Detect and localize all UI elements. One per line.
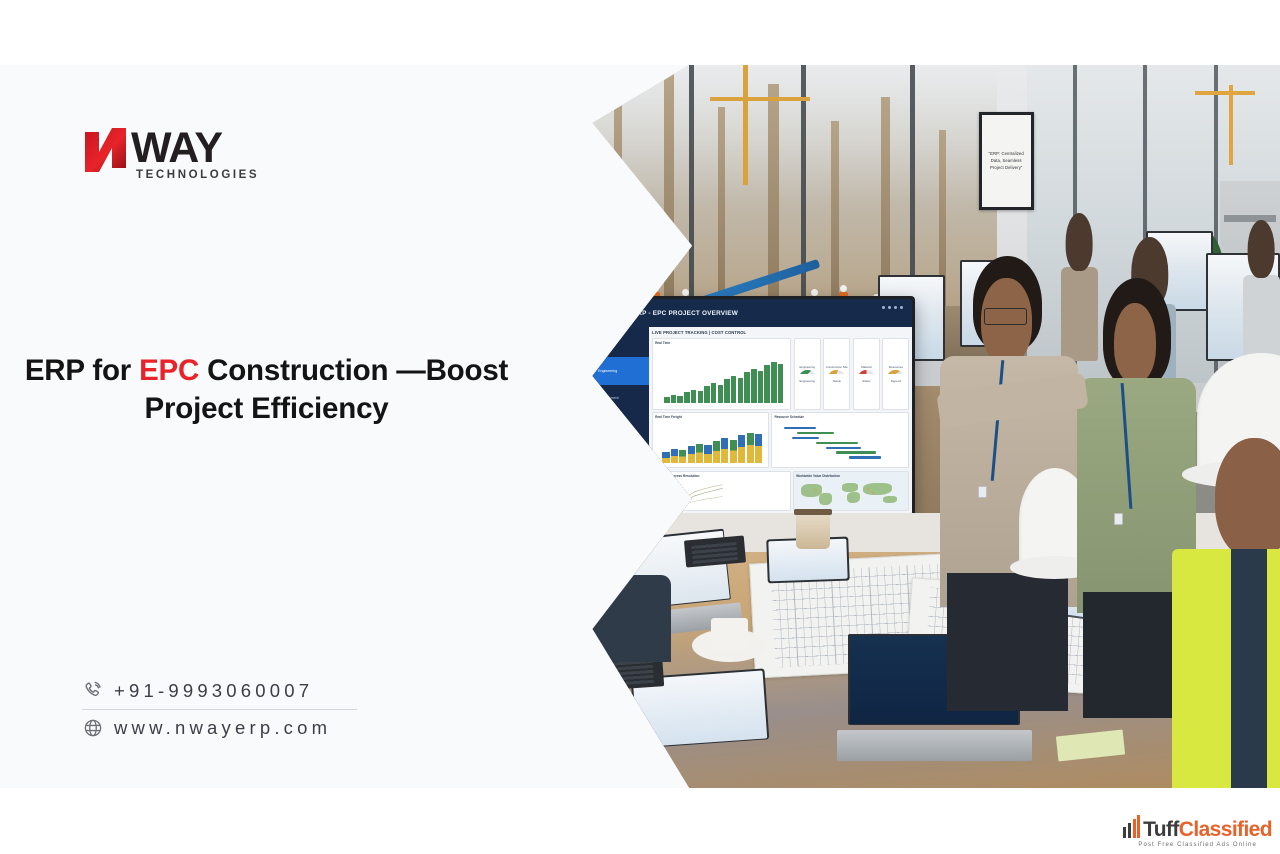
person-site-engineer	[1176, 361, 1280, 788]
headline-accent: EPC	[139, 354, 199, 387]
person-project-lead	[930, 260, 1094, 694]
person-pointing-arm	[938, 383, 1087, 470]
gauge-status: Engineering	[800, 379, 815, 383]
sidebar-item-engineering[interactable]: Engineering	[587, 357, 649, 385]
gauge-label: Construction Site	[826, 365, 848, 369]
sidebar-item-label: Engineering	[598, 369, 617, 373]
engineering-icon	[592, 369, 595, 372]
ad-banner-canvas: WAY TECHNOLOGIES ERP for EPC Constructio…	[0, 0, 1280, 854]
bar-chart-real-time	[664, 360, 783, 404]
watermark-tagline: Post Free Classified Ads Online	[1123, 842, 1272, 848]
nway-logo: WAY TECHNOLOGIES	[82, 126, 342, 188]
gauge-arc	[887, 370, 904, 379]
headline-line1-post: Construction —Boost	[199, 354, 508, 387]
card-title: Real Time	[655, 341, 788, 345]
eyeglasses	[984, 308, 1027, 325]
id-badge	[978, 486, 987, 498]
hero-photo-frame: “ERP: Centralized Data, Seamless Project…	[536, 65, 1280, 788]
card-resource-schedule: Resource Schedule	[771, 412, 909, 468]
contact-divider	[82, 709, 357, 710]
wall-poster-text: “ERP: Centralized Data, Seamless Project…	[985, 150, 1028, 171]
gauge-status: Status	[862, 379, 870, 383]
website-url: www.nwayerp.com	[114, 717, 331, 739]
wall-poster: “ERP: Centralized Data, Seamless Project…	[979, 112, 1034, 210]
globe-icon	[82, 717, 104, 739]
gauge-status: Status	[833, 379, 841, 383]
phone-call-icon	[82, 680, 104, 702]
tuffclassified-watermark: TuffClassified Post Free Classified Ads …	[1123, 815, 1272, 848]
dashboard-subtitle: LIVE PROJECT TRACKING | COST CONTROL	[652, 330, 909, 335]
gauge-arc	[858, 370, 875, 379]
gauge-arc	[799, 370, 816, 379]
hi-vis-vest	[1172, 549, 1280, 788]
gauge-resources: Resources Depend	[882, 338, 909, 410]
hero-photo: “ERP: Centralized Data, Seamless Project…	[536, 65, 1280, 788]
sticky-note	[1056, 730, 1125, 762]
page-title: ERP for EPC Construction —Boost Project …	[24, 352, 509, 428]
gauge-card-group: Engineering Engineering Construction Sit…	[794, 338, 910, 410]
gauge-label: Engineering	[800, 365, 815, 369]
dashboard-window-controls[interactable]	[882, 306, 903, 309]
calculator-top[interactable]	[684, 535, 746, 568]
card-worldwide-distribution: Worldwide Value Distribution	[793, 471, 909, 511]
id-badge	[1114, 513, 1123, 525]
contact-block: +91-9993060007 www.nwayerp.com	[82, 676, 382, 743]
gauge-engineering: Engineering Engineering	[794, 338, 821, 410]
gauge-material: Material Status	[853, 338, 880, 410]
card-title: Worldwide Value Distribution	[796, 474, 906, 478]
gauge-status: Depend	[891, 379, 901, 383]
contact-website-row[interactable]: www.nwayerp.com	[82, 713, 382, 743]
card-title: Real Time Freight	[655, 415, 766, 419]
gantt-chart	[779, 425, 903, 463]
gauge-arc	[828, 370, 845, 379]
gauge-label: Resources	[889, 365, 903, 369]
coffee-cup	[711, 618, 748, 651]
bar-chart-icon	[1123, 815, 1140, 838]
gauge-label: Material	[861, 365, 871, 369]
dashboard-title: Nway ERP - EPC PROJECT OVERVIEW	[587, 299, 912, 327]
watermark-name-orange: Classified	[1179, 818, 1272, 841]
card-pipeline-progress: Pipeline Progress Resolution	[652, 471, 790, 511]
sidebar-item-label: Procurement	[598, 396, 619, 400]
headline-line2: Project Efficiency	[145, 392, 389, 425]
contact-phone-row[interactable]: +91-9993060007	[82, 676, 382, 706]
headline-line1-pre: ERP for	[25, 354, 139, 387]
phone-number: +91-9993060007	[114, 680, 313, 702]
card-real-time: Real Time	[652, 338, 791, 410]
gauge-construction-site: Construction Site Status	[823, 338, 850, 410]
coffee-cup-togo	[796, 513, 829, 549]
logo-tagline: TECHNOLOGIES	[136, 169, 259, 181]
n-arrow-mark-icon	[82, 126, 134, 174]
watermark-name-dark: Tuff	[1143, 818, 1179, 841]
logo-wordmark: WAY	[131, 126, 222, 170]
card-title: Resource Schedule	[774, 415, 906, 419]
